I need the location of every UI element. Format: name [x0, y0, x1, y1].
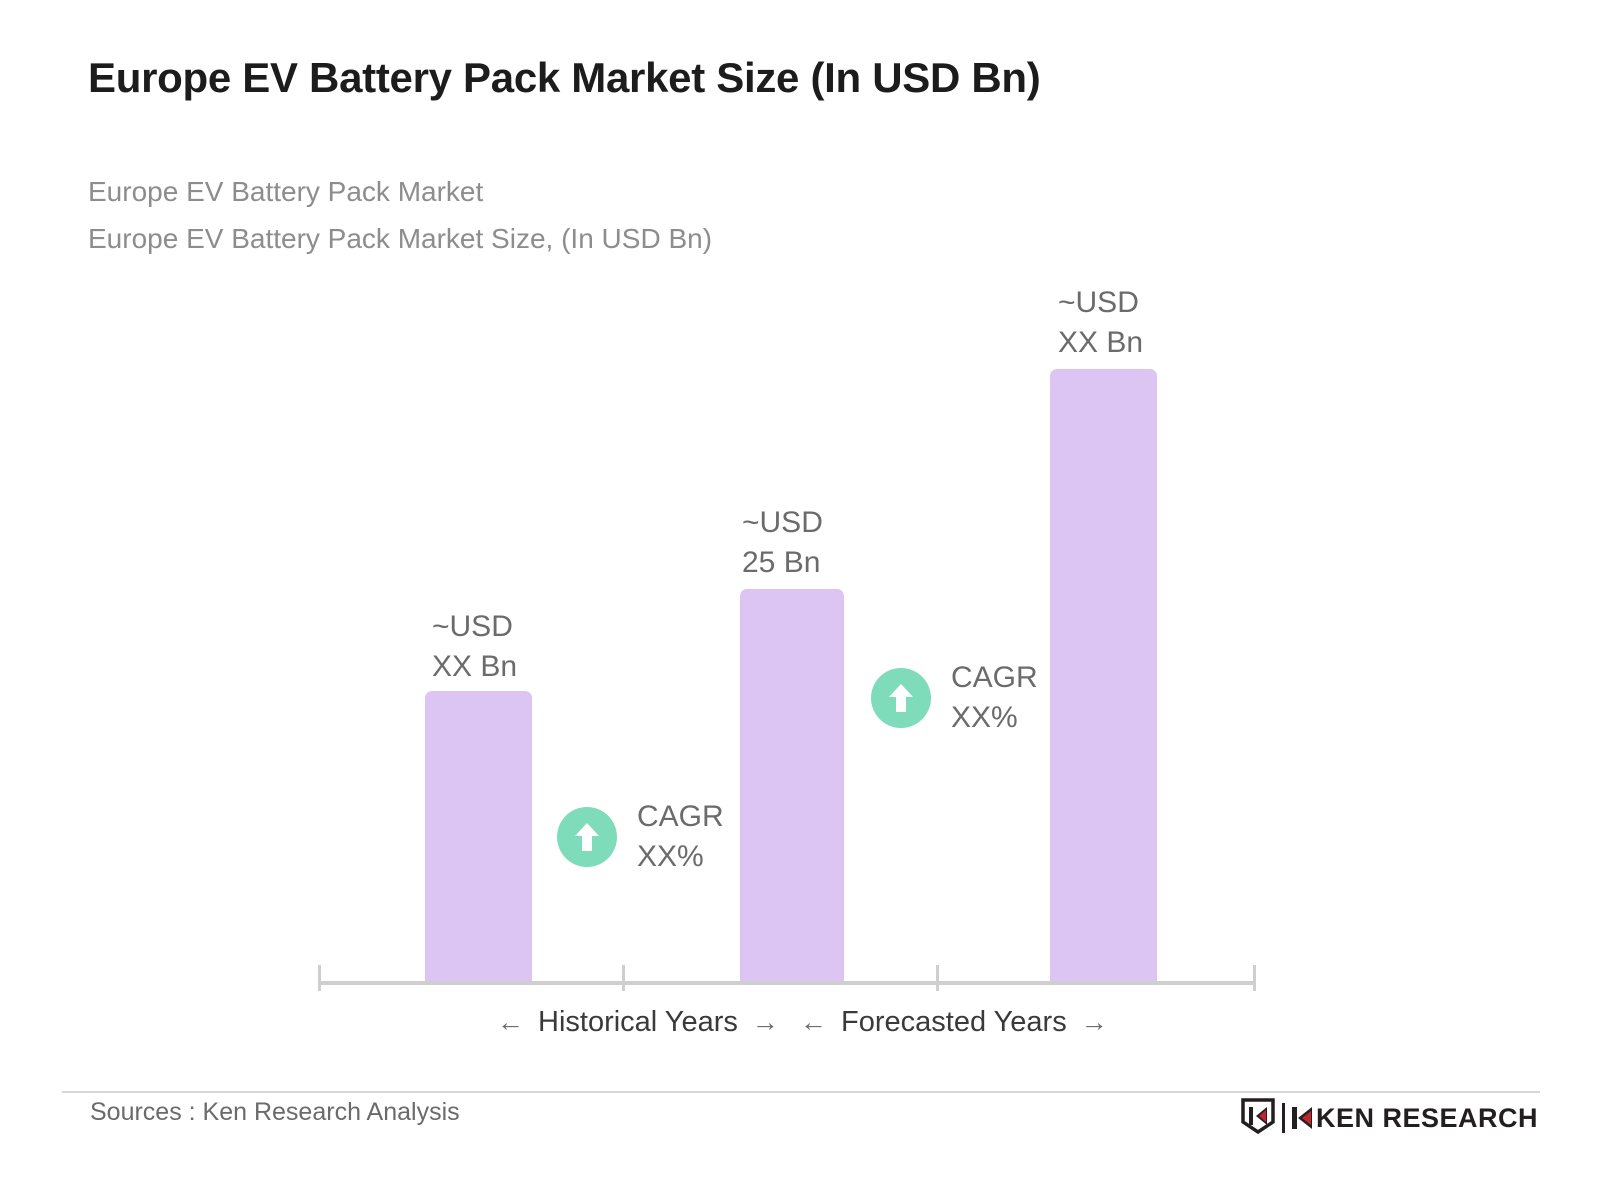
bar-label-3: ~USD XX Bn: [1058, 283, 1143, 363]
x-axis-line: [318, 981, 1256, 985]
left-arrow-icon: ←: [800, 1009, 827, 1036]
bar-label-1: ~USD XX Bn: [432, 607, 517, 687]
period-text-historical: Historical Years: [538, 1006, 738, 1039]
ken-research-shield-icon: [1241, 1098, 1275, 1139]
cagr-label-1: CAGR: [637, 797, 724, 837]
cagr-text-historical: CAGR XX%: [637, 797, 724, 877]
arrow-up-icon: [871, 668, 931, 728]
slide-canvas: Europe EV Battery Pack Market Size (In U…: [0, 0, 1600, 1200]
period-label-forecasted: ← Forecasted Years →: [800, 1006, 1108, 1039]
cagr-label-2: CAGR: [951, 658, 1038, 698]
period-label-historical: ← Historical Years →: [497, 1006, 779, 1039]
bar-forecast[interactable]: [1050, 369, 1157, 983]
cagr-value-1: XX%: [637, 837, 724, 877]
right-arrow-icon: →: [752, 1009, 779, 1036]
logo-text: KEN RESEARCH: [1316, 1103, 1538, 1134]
cagr-value-2: XX%: [951, 698, 1038, 738]
sources-text: Sources : Ken Research Analysis: [90, 1098, 460, 1127]
bar-historical[interactable]: [425, 691, 532, 983]
axis-tick-end: [1253, 965, 1256, 991]
bar-label-1-line2: XX Bn: [432, 647, 517, 687]
bar-label-3-line2: XX Bn: [1058, 323, 1143, 363]
right-arrow-icon: →: [1081, 1009, 1108, 1036]
bar-chart: ~USD XX Bn ~USD 25 Bn ~USD XX Bn CAGR XX…: [0, 0, 1600, 1200]
cagr-annotation-forecast: CAGR XX%: [871, 658, 1038, 738]
bar-label-2: ~USD 25 Bn: [742, 503, 823, 583]
cagr-text-forecast: CAGR XX%: [951, 658, 1038, 738]
logo-divider: [1282, 1103, 1285, 1133]
arrow-up-icon: [557, 807, 617, 867]
axis-tick-mid-2: [936, 965, 939, 991]
ken-research-logo: KEN RESEARCH: [1241, 1098, 1538, 1138]
axis-tick-start: [318, 965, 321, 991]
bar-label-2-line2: 25 Bn: [742, 543, 823, 583]
left-arrow-icon: ←: [497, 1009, 524, 1036]
cagr-annotation-historical: CAGR XX%: [557, 797, 724, 877]
bar-base-year[interactable]: [740, 589, 844, 983]
bar-label-1-line1: ~USD: [432, 607, 517, 647]
logo-wordmark: KEN RESEARCH: [1292, 1103, 1538, 1134]
period-text-forecasted: Forecasted Years: [841, 1006, 1067, 1039]
bar-label-2-line1: ~USD: [742, 503, 823, 543]
bar-label-3-line1: ~USD: [1058, 283, 1143, 323]
axis-tick-mid-1: [622, 965, 625, 991]
footer-divider: [62, 1091, 1540, 1093]
